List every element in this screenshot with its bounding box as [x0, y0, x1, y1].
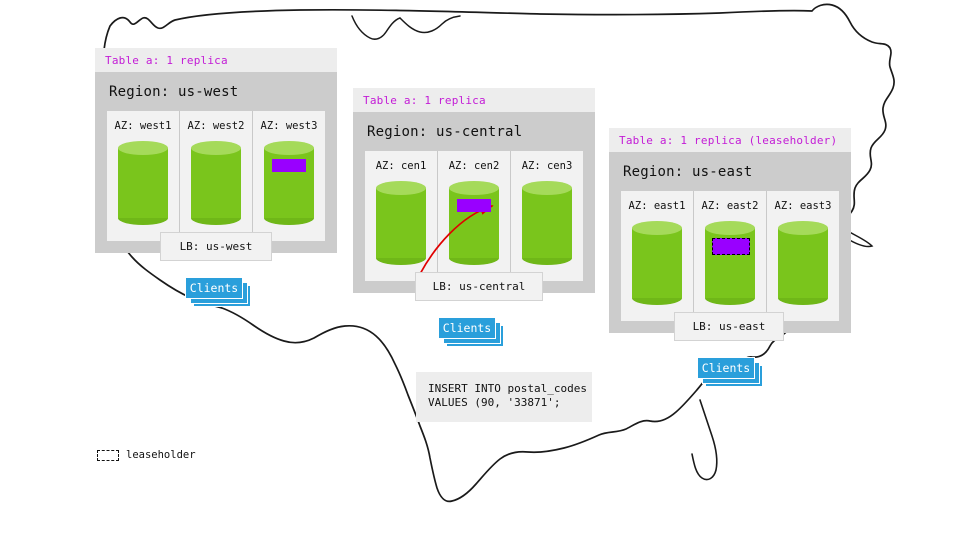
- az-row-us-central: AZ: cen1 AZ: cen2: [365, 151, 583, 281]
- az-cell-cen2[interactable]: AZ: cen2: [438, 151, 511, 281]
- cylinder-body: [778, 228, 828, 298]
- az-label-cen3: AZ: cen3: [522, 160, 573, 172]
- az-row-us-west: AZ: west1 AZ: west2 AZ: [107, 111, 325, 241]
- clients-button-us-central[interactable]: Clients: [438, 317, 496, 339]
- cylinder-top: [118, 141, 168, 155]
- diagram-canvas: Table a: 1 replica Region: us-west AZ: w…: [0, 0, 960, 540]
- load-balancer-us-east[interactable]: LB: us-east: [674, 312, 784, 341]
- cylinder-top: [778, 221, 828, 235]
- region-body-us-west: Region: us-west AZ: west1 AZ: west2: [95, 72, 337, 253]
- cylinder-top: [522, 181, 572, 195]
- az-label-east2: AZ: east2: [702, 200, 759, 212]
- region-panel-us-east: Table a: 1 replica (leaseholder) Region:…: [609, 128, 851, 333]
- load-balancer-us-central[interactable]: LB: us-central: [415, 272, 543, 301]
- node-cylinder-cen2[interactable]: [449, 181, 499, 265]
- clients-button-us-east[interactable]: Clients: [697, 357, 755, 379]
- cylinder-body: [632, 228, 682, 298]
- node-cylinder-east1[interactable]: [632, 221, 682, 305]
- region-body-us-central: Region: us-central AZ: cen1 AZ: cen2: [353, 112, 595, 293]
- az-label-east3: AZ: east3: [775, 200, 832, 212]
- region-band-label-us-central: Table a: 1 replica: [353, 88, 595, 112]
- region-panel-us-west: Table a: 1 replica Region: us-west AZ: w…: [95, 48, 337, 253]
- load-balancer-us-west[interactable]: LB: us-west: [160, 232, 272, 261]
- region-title-us-east: Region: us-east: [621, 152, 839, 191]
- az-cell-east3[interactable]: AZ: east3: [767, 191, 839, 321]
- clients-stack-us-central[interactable]: Clients: [438, 317, 504, 344]
- az-cell-west2[interactable]: AZ: west2: [180, 111, 253, 241]
- node-cylinder-east3[interactable]: [778, 221, 828, 305]
- clients-stack-us-west[interactable]: Clients: [185, 277, 251, 304]
- cylinder-body: [522, 188, 572, 258]
- az-label-cen2: AZ: cen2: [449, 160, 500, 172]
- az-label-west3: AZ: west3: [261, 120, 318, 132]
- cylinder-top: [449, 181, 499, 195]
- replica-marker-west3: [272, 159, 306, 172]
- region-band-label-us-east: Table a: 1 replica (leaseholder): [609, 128, 851, 152]
- leaseholder-replica-marker-east2: [712, 238, 750, 255]
- cylinder-top: [376, 181, 426, 195]
- az-cell-east1[interactable]: AZ: east1: [621, 191, 694, 321]
- cylinder-body: [376, 188, 426, 258]
- clients-stack-us-east[interactable]: Clients: [697, 357, 763, 384]
- region-panel-us-central: Table a: 1 replica Region: us-central AZ…: [353, 88, 595, 293]
- az-cell-west3[interactable]: AZ: west3: [253, 111, 325, 241]
- az-cell-west1[interactable]: AZ: west1: [107, 111, 180, 241]
- az-label-west2: AZ: west2: [188, 120, 245, 132]
- legend-label: leaseholder: [126, 449, 196, 461]
- az-cell-cen1[interactable]: AZ: cen1: [365, 151, 438, 281]
- az-row-us-east: AZ: east1 AZ: east2: [621, 191, 839, 321]
- node-cylinder-east2[interactable]: [705, 221, 755, 305]
- cylinder-top: [191, 141, 241, 155]
- az-label-cen1: AZ: cen1: [376, 160, 427, 172]
- cylinder-body: [191, 148, 241, 218]
- node-cylinder-west1[interactable]: [118, 141, 168, 225]
- cylinder-top: [705, 221, 755, 235]
- az-label-west1: AZ: west1: [115, 120, 172, 132]
- cylinder-top: [632, 221, 682, 235]
- region-band-label-us-west: Table a: 1 replica: [95, 48, 337, 72]
- az-cell-east2[interactable]: AZ: east2: [694, 191, 767, 321]
- az-label-east1: AZ: east1: [629, 200, 686, 212]
- region-body-us-east: Region: us-east AZ: east1 AZ: east2: [609, 152, 851, 333]
- cylinder-body: [118, 148, 168, 218]
- clients-button-us-west[interactable]: Clients: [185, 277, 243, 299]
- node-cylinder-cen1[interactable]: [376, 181, 426, 265]
- replica-marker-cen2: [457, 199, 491, 212]
- node-cylinder-west2[interactable]: [191, 141, 241, 225]
- legend: leaseholder: [97, 449, 196, 461]
- cylinder-top: [264, 141, 314, 155]
- dashed-rect-icon: [97, 450, 119, 461]
- az-cell-cen3[interactable]: AZ: cen3: [511, 151, 583, 281]
- node-cylinder-west3[interactable]: [264, 141, 314, 225]
- region-title-us-central: Region: us-central: [365, 112, 583, 151]
- sql-statement-box: INSERT INTO postal_codes VALUES (90, '33…: [416, 372, 592, 422]
- region-title-us-west: Region: us-west: [107, 72, 325, 111]
- node-cylinder-cen3[interactable]: [522, 181, 572, 265]
